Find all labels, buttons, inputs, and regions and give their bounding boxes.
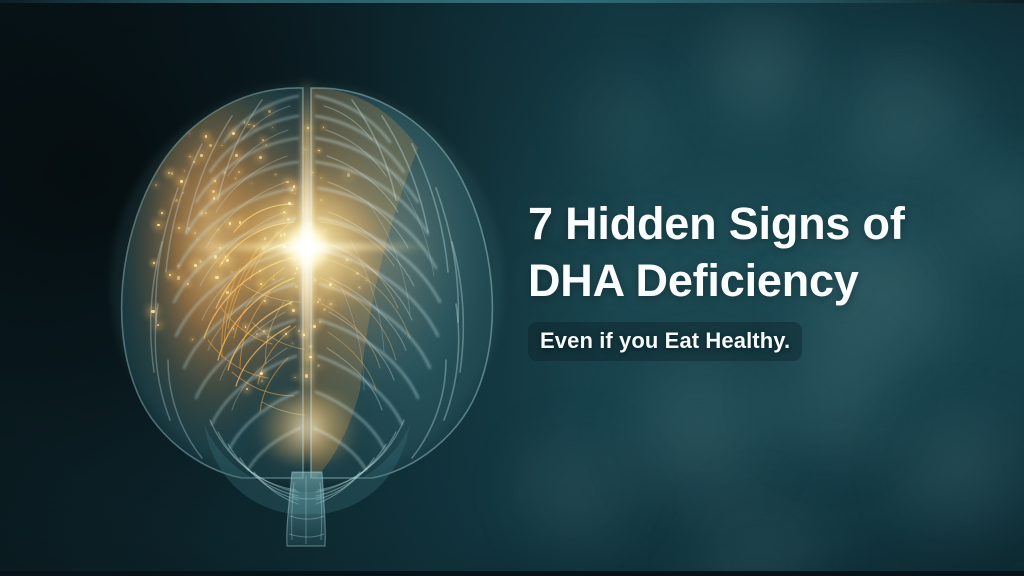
top-edge-line [0,0,1024,3]
bottom-edge-bar [0,571,1024,576]
brain-svg [92,72,522,558]
brain-hemisphere-right [311,88,492,478]
graphic-canvas: 7 Hidden Signs of DHA Deficiency Even if… [0,0,1024,576]
text-block: 7 Hidden Signs of DHA Deficiency Even if… [528,196,948,361]
headline-line-2: DHA Deficiency [528,253,948,308]
headline-line-1: 7 Hidden Signs of [528,196,948,251]
subtitle: Even if you Eat Healthy. [528,322,802,361]
brain-illustration [92,72,522,558]
subtitle-row: Even if you Eat Healthy. [528,322,948,361]
brain-hemisphere-left [122,88,320,478]
